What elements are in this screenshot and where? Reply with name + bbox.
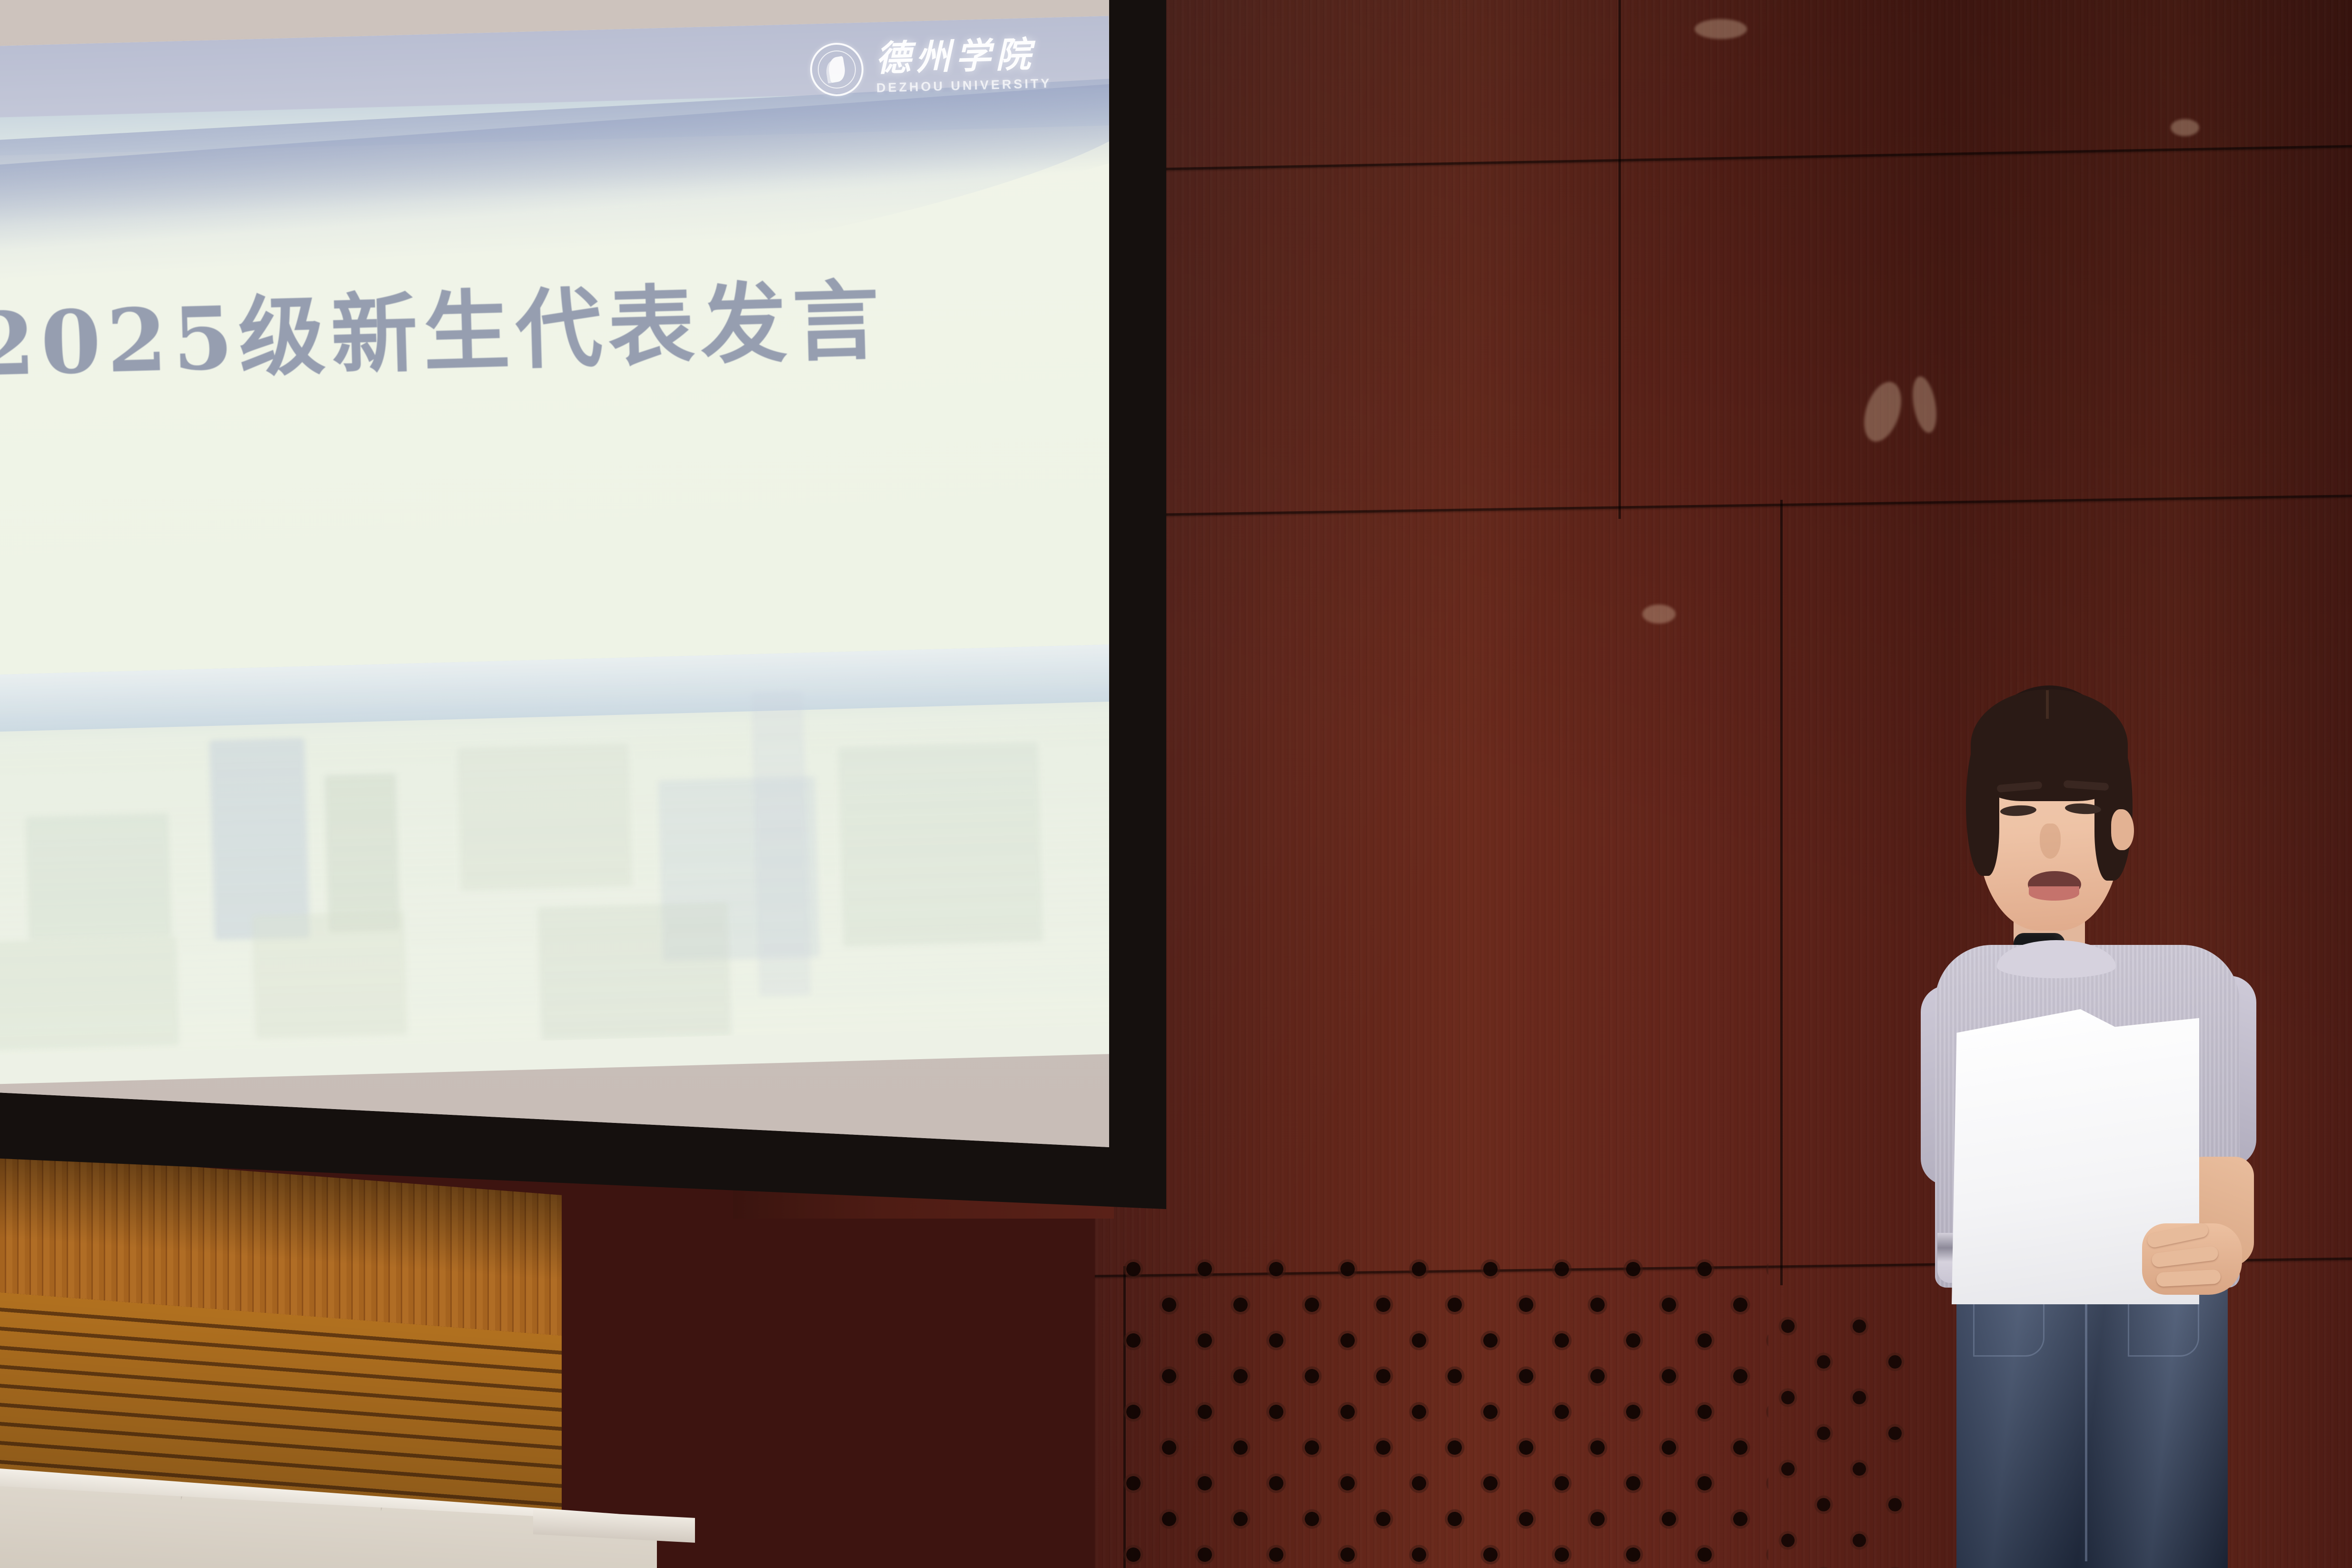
university-name-cn: 德州学院 — [875, 37, 1051, 77]
jeans-pocket-right — [2128, 1300, 2199, 1357]
jeans-center-seam — [2085, 1285, 2087, 1561]
ear — [2111, 809, 2134, 850]
panel-seam-line — [1780, 500, 1783, 1285]
hair-side-left — [1966, 733, 1999, 876]
university-logo-text: 德州学院 DEZHOU UNIVERSITY — [875, 37, 1052, 96]
university-crest-icon — [809, 42, 864, 97]
photo-detail-blobs — [0, 644, 1109, 1057]
wall-scuff-mark — [2171, 119, 2199, 136]
student-speaker — [1895, 681, 2323, 1568]
jeans-pocket-left — [1973, 1300, 2044, 1357]
presentation-slide: 德州学院 DEZHOU UNIVERSITY 2025级新生代表发言 — [0, 16, 1109, 1085]
university-logo: 德州学院 DEZHOU UNIVERSITY — [809, 37, 1052, 98]
slide-title: 2025级新生代表发言 — [0, 250, 886, 400]
panel-seam-line — [1618, 0, 1621, 519]
projection-screen-frame: 德州学院 DEZHOU UNIVERSITY 2025级新生代表发言 — [0, 0, 1166, 1209]
nose — [2040, 824, 2061, 859]
acoustic-perforated-panel — [1121, 1257, 1768, 1568]
auditorium-scene: 德州学院 DEZHOU UNIVERSITY 2025级新生代表发言 — [0, 0, 2352, 1568]
projection-screen-surface: 德州学院 DEZHOU UNIVERSITY 2025级新生代表发言 — [0, 0, 1109, 1147]
campus-aerial-photo — [0, 644, 1109, 1057]
hair-side-right — [2094, 733, 2133, 881]
wall-scuff-mark — [1642, 605, 1676, 624]
acoustic-perforated-panel-right — [1776, 1314, 1909, 1568]
lower-lip — [2029, 886, 2079, 901]
wall-scuff-mark — [1695, 19, 1747, 39]
crest-flame-motif — [827, 56, 847, 83]
